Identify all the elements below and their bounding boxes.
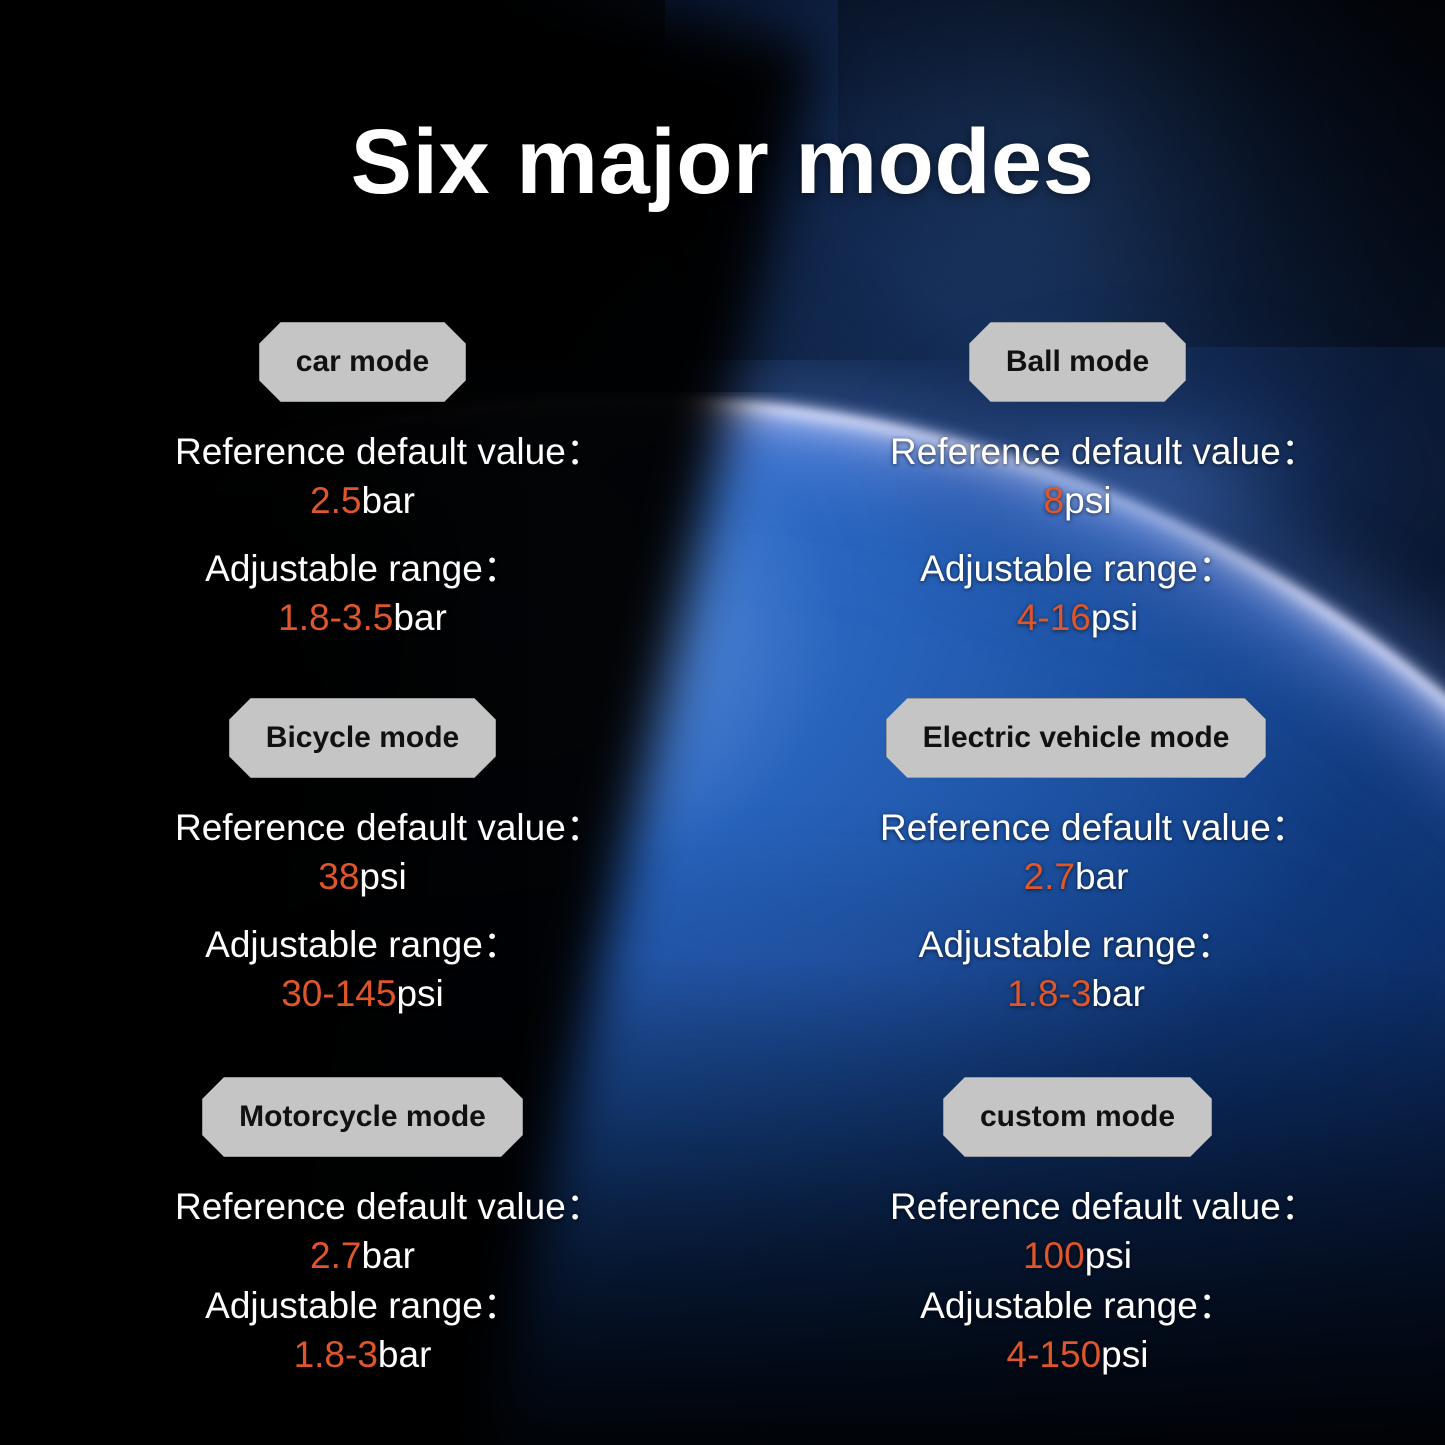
- mode-card-bicycle: Bicycle mode Reference default value： 38…: [175, 698, 550, 1017]
- default-value-label: Reference default value：: [175, 1183, 550, 1230]
- default-unit: psi: [359, 856, 406, 897]
- badge-row: custom mode: [890, 1077, 1265, 1157]
- page-title: Six major modes: [0, 116, 1445, 208]
- mode-details: Reference default value： 100psi Adjustab…: [890, 1183, 1265, 1378]
- range-value-row: 1.8-3.5bar: [175, 594, 550, 641]
- default-value-row: 2.7bar: [175, 1232, 550, 1279]
- mode-details: Reference default value： 2.7bar Adjustab…: [175, 1183, 550, 1378]
- range-label: Adjustable range：: [890, 1282, 1265, 1329]
- badge-row: Electric vehicle mode: [880, 698, 1272, 778]
- mode-badge-ball-mode[interactable]: Ball mode: [969, 322, 1186, 402]
- default-value-row: 38psi: [175, 853, 550, 900]
- default-value: 2.5: [310, 480, 361, 521]
- default-value-row: 8psi: [890, 477, 1265, 524]
- default-value-label: Reference default value：: [880, 804, 1272, 851]
- default-value: 2.7: [310, 1235, 361, 1276]
- mode-details: Reference default value： 8psi Adjustable…: [890, 428, 1265, 641]
- mode-details: Reference default value： 38psi Adjustabl…: [175, 804, 550, 1017]
- range-label: Adjustable range：: [175, 1282, 550, 1329]
- default-unit: bar: [361, 1235, 414, 1276]
- range-value: 1.8-3.5: [278, 597, 393, 638]
- default-value-row: 2.5bar: [175, 477, 550, 524]
- default-value-label: Reference default value：: [890, 1183, 1265, 1230]
- range-value: 1.8-3: [294, 1334, 378, 1375]
- default-unit: bar: [361, 480, 414, 521]
- range-value-row: 1.8-3bar: [175, 1331, 550, 1378]
- range-unit: psi: [1091, 597, 1138, 638]
- badge-row: Bicycle mode: [175, 698, 550, 778]
- mode-badge-bicycle-mode[interactable]: Bicycle mode: [229, 698, 496, 778]
- range-value-row: 1.8-3bar: [880, 970, 1272, 1017]
- default-value-label: Reference default value：: [890, 428, 1265, 475]
- range-label: Adjustable range：: [175, 921, 550, 968]
- default-unit: bar: [1075, 856, 1128, 897]
- range-label: Adjustable range：: [880, 921, 1272, 968]
- default-unit: psi: [1085, 1235, 1132, 1276]
- default-value: 2.7: [1024, 856, 1075, 897]
- mode-details: Reference default value： 2.5bar Adjustab…: [175, 428, 550, 641]
- range-value: 1.8-3: [1007, 973, 1091, 1014]
- range-value-row: 4-150psi: [890, 1331, 1265, 1378]
- range-value-row: 4-16psi: [890, 594, 1265, 641]
- range-label: Adjustable range：: [175, 545, 550, 592]
- range-value: 4-16: [1017, 597, 1091, 638]
- mode-card-electric-vehicle: Electric vehicle mode Reference default …: [880, 698, 1272, 1017]
- range-value-row: 30-145psi: [175, 970, 550, 1017]
- badge-row: Ball mode: [890, 322, 1265, 402]
- range-unit: psi: [396, 973, 443, 1014]
- poster-content: Six major modes car mode Reference defau…: [0, 0, 1445, 1445]
- mode-card-car: car mode Reference default value： 2.5bar…: [175, 322, 550, 641]
- default-unit: psi: [1064, 480, 1111, 521]
- default-value-row: 2.7bar: [880, 853, 1272, 900]
- mode-details: Reference default value： 2.7bar Adjustab…: [880, 804, 1272, 1017]
- mode-badge-motorcycle-mode[interactable]: Motorcycle mode: [202, 1077, 523, 1157]
- mode-card-ball: Ball mode Reference default value： 8psi …: [890, 322, 1265, 641]
- default-value: 100: [1023, 1235, 1085, 1276]
- mode-badge-electric-vehicle-mode[interactable]: Electric vehicle mode: [886, 698, 1267, 778]
- range-value: 4-150: [1007, 1334, 1102, 1375]
- range-unit: bar: [1091, 973, 1144, 1014]
- poster-stage: Six major modes car mode Reference defau…: [0, 0, 1445, 1445]
- range-unit: bar: [378, 1334, 431, 1375]
- range-unit: psi: [1101, 1334, 1148, 1375]
- range-label: Adjustable range：: [890, 545, 1265, 592]
- badge-row: Motorcycle mode: [175, 1077, 550, 1157]
- mode-card-motorcycle: Motorcycle mode Reference default value：…: [175, 1077, 550, 1378]
- mode-badge-car-mode[interactable]: car mode: [259, 322, 466, 402]
- range-unit: bar: [393, 597, 446, 638]
- default-value-row: 100psi: [890, 1232, 1265, 1279]
- mode-card-custom: custom mode Reference default value： 100…: [890, 1077, 1265, 1378]
- badge-row: car mode: [175, 322, 550, 402]
- default-value-label: Reference default value：: [175, 428, 550, 475]
- mode-badge-custom-mode[interactable]: custom mode: [943, 1077, 1212, 1157]
- default-value: 38: [318, 856, 359, 897]
- range-value: 30-145: [281, 973, 396, 1014]
- default-value-label: Reference default value：: [175, 804, 550, 851]
- default-value: 8: [1044, 480, 1065, 521]
